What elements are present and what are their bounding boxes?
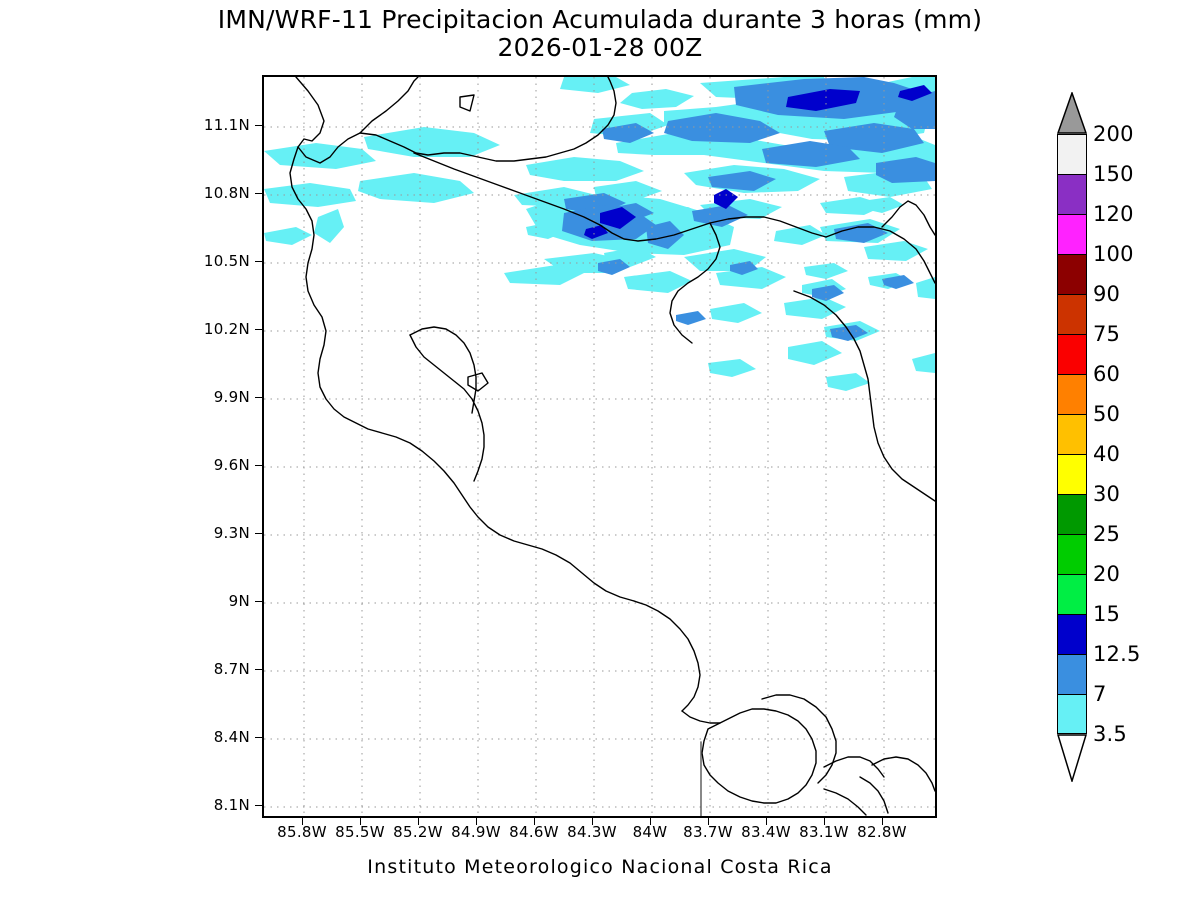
- colorbar-over-arrow-icon: [1057, 92, 1087, 134]
- y-tick-label: 9.3N: [155, 524, 250, 542]
- colorbar-segment: [1057, 294, 1087, 334]
- y-tick-label: 8.7N: [155, 660, 250, 678]
- y-tick-label: 9.6N: [155, 456, 250, 474]
- x-tick-label: 83.4W: [741, 823, 791, 841]
- colorbar-label: 25: [1093, 522, 1120, 546]
- y-tick-mark: [255, 329, 262, 330]
- colorbar-segment: [1057, 574, 1087, 614]
- y-tick-label: 9.9N: [155, 388, 250, 406]
- map-plot-area: [262, 75, 937, 818]
- colorbar-label: 100: [1093, 242, 1134, 266]
- y-tick-mark: [255, 261, 262, 262]
- y-tick-label: 10.2N: [155, 320, 250, 338]
- colorbar-under-arrow-icon: [1057, 734, 1087, 782]
- y-tick-mark: [255, 397, 262, 398]
- y-tick-label: 9N: [155, 592, 250, 610]
- y-tick-mark: [255, 601, 262, 602]
- y-tick-mark: [255, 465, 262, 466]
- colorbar-segment: [1057, 174, 1087, 214]
- x-tick-label: 84.3W: [567, 823, 617, 841]
- colorbar-segment: [1057, 334, 1087, 374]
- colorbar-label: 90: [1093, 282, 1120, 306]
- y-tick-label: 8.4N: [155, 728, 250, 746]
- colorbar-segment: [1057, 654, 1087, 694]
- colorbar-label: 40: [1093, 442, 1120, 466]
- colorbar-label: 75: [1093, 322, 1120, 346]
- colorbar-label: 20: [1093, 562, 1120, 586]
- y-tick-label: 8.1N: [155, 796, 250, 814]
- y-tick-label: 10.5N: [155, 252, 250, 270]
- x-tick-label: 83.7W: [683, 823, 733, 841]
- chart-title: IMN/WRF-11 Precipitacion Acumulada duran…: [0, 6, 1200, 62]
- y-tick-mark: [255, 125, 262, 126]
- colorbar-label: 50: [1093, 402, 1120, 426]
- title-line-1: IMN/WRF-11 Precipitacion Acumulada duran…: [0, 6, 1200, 34]
- x-tick-label: 84W: [633, 823, 668, 841]
- colorbar-segment: [1057, 414, 1087, 454]
- colorbar-label: 150: [1093, 162, 1134, 186]
- colorbar-segment: [1057, 494, 1087, 534]
- colorbar-label: 3.5: [1093, 722, 1127, 746]
- x-tick-label: 83.1W: [799, 823, 849, 841]
- colorbar-legend: 200 150 120 100 90 75 60 50 40 30 25 20 …: [1051, 92, 1191, 812]
- weather-map-page: IMN/WRF-11 Precipitacion Acumulada duran…: [0, 0, 1200, 900]
- colorbar-label: 12.5: [1093, 642, 1141, 666]
- colorbar-segment: [1057, 214, 1087, 254]
- colorbar-segment: [1057, 134, 1087, 174]
- title-line-2: 2026-01-28 00Z: [0, 34, 1200, 62]
- colorbar-segment: [1057, 694, 1087, 734]
- colorbar-label: 60: [1093, 362, 1120, 386]
- y-tick-mark: [255, 805, 262, 806]
- colorbar-label: 7: [1093, 682, 1107, 706]
- y-tick-mark: [255, 533, 262, 534]
- x-tick-label: 84.9W: [451, 823, 501, 841]
- colorbar-label: 15: [1093, 602, 1120, 626]
- map-canvas: [264, 77, 935, 816]
- x-tick-label: 85.2W: [393, 823, 443, 841]
- colorbar-segment: [1057, 374, 1087, 414]
- y-tick-mark: [255, 669, 262, 670]
- colorbar-label: 30: [1093, 482, 1120, 506]
- y-tick-mark: [255, 193, 262, 194]
- colorbar-segment: [1057, 534, 1087, 574]
- y-tick-label: 10.8N: [155, 184, 250, 202]
- colorbar-segment: [1057, 614, 1087, 654]
- colorbar-segment: [1057, 254, 1087, 294]
- y-tick-label: 11.1N: [155, 116, 250, 134]
- colorbar-segment: [1057, 454, 1087, 494]
- x-tick-label: 85.5W: [335, 823, 385, 841]
- x-tick-label: 82.8W: [857, 823, 907, 841]
- source-attribution: Instituto Meteorologico Nacional Costa R…: [0, 856, 1200, 878]
- x-tick-label: 84.6W: [509, 823, 559, 841]
- x-tick-label: 85.8W: [277, 823, 327, 841]
- colorbar-label: 200: [1093, 122, 1134, 146]
- y-tick-mark: [255, 737, 262, 738]
- colorbar-label: 120: [1093, 202, 1134, 226]
